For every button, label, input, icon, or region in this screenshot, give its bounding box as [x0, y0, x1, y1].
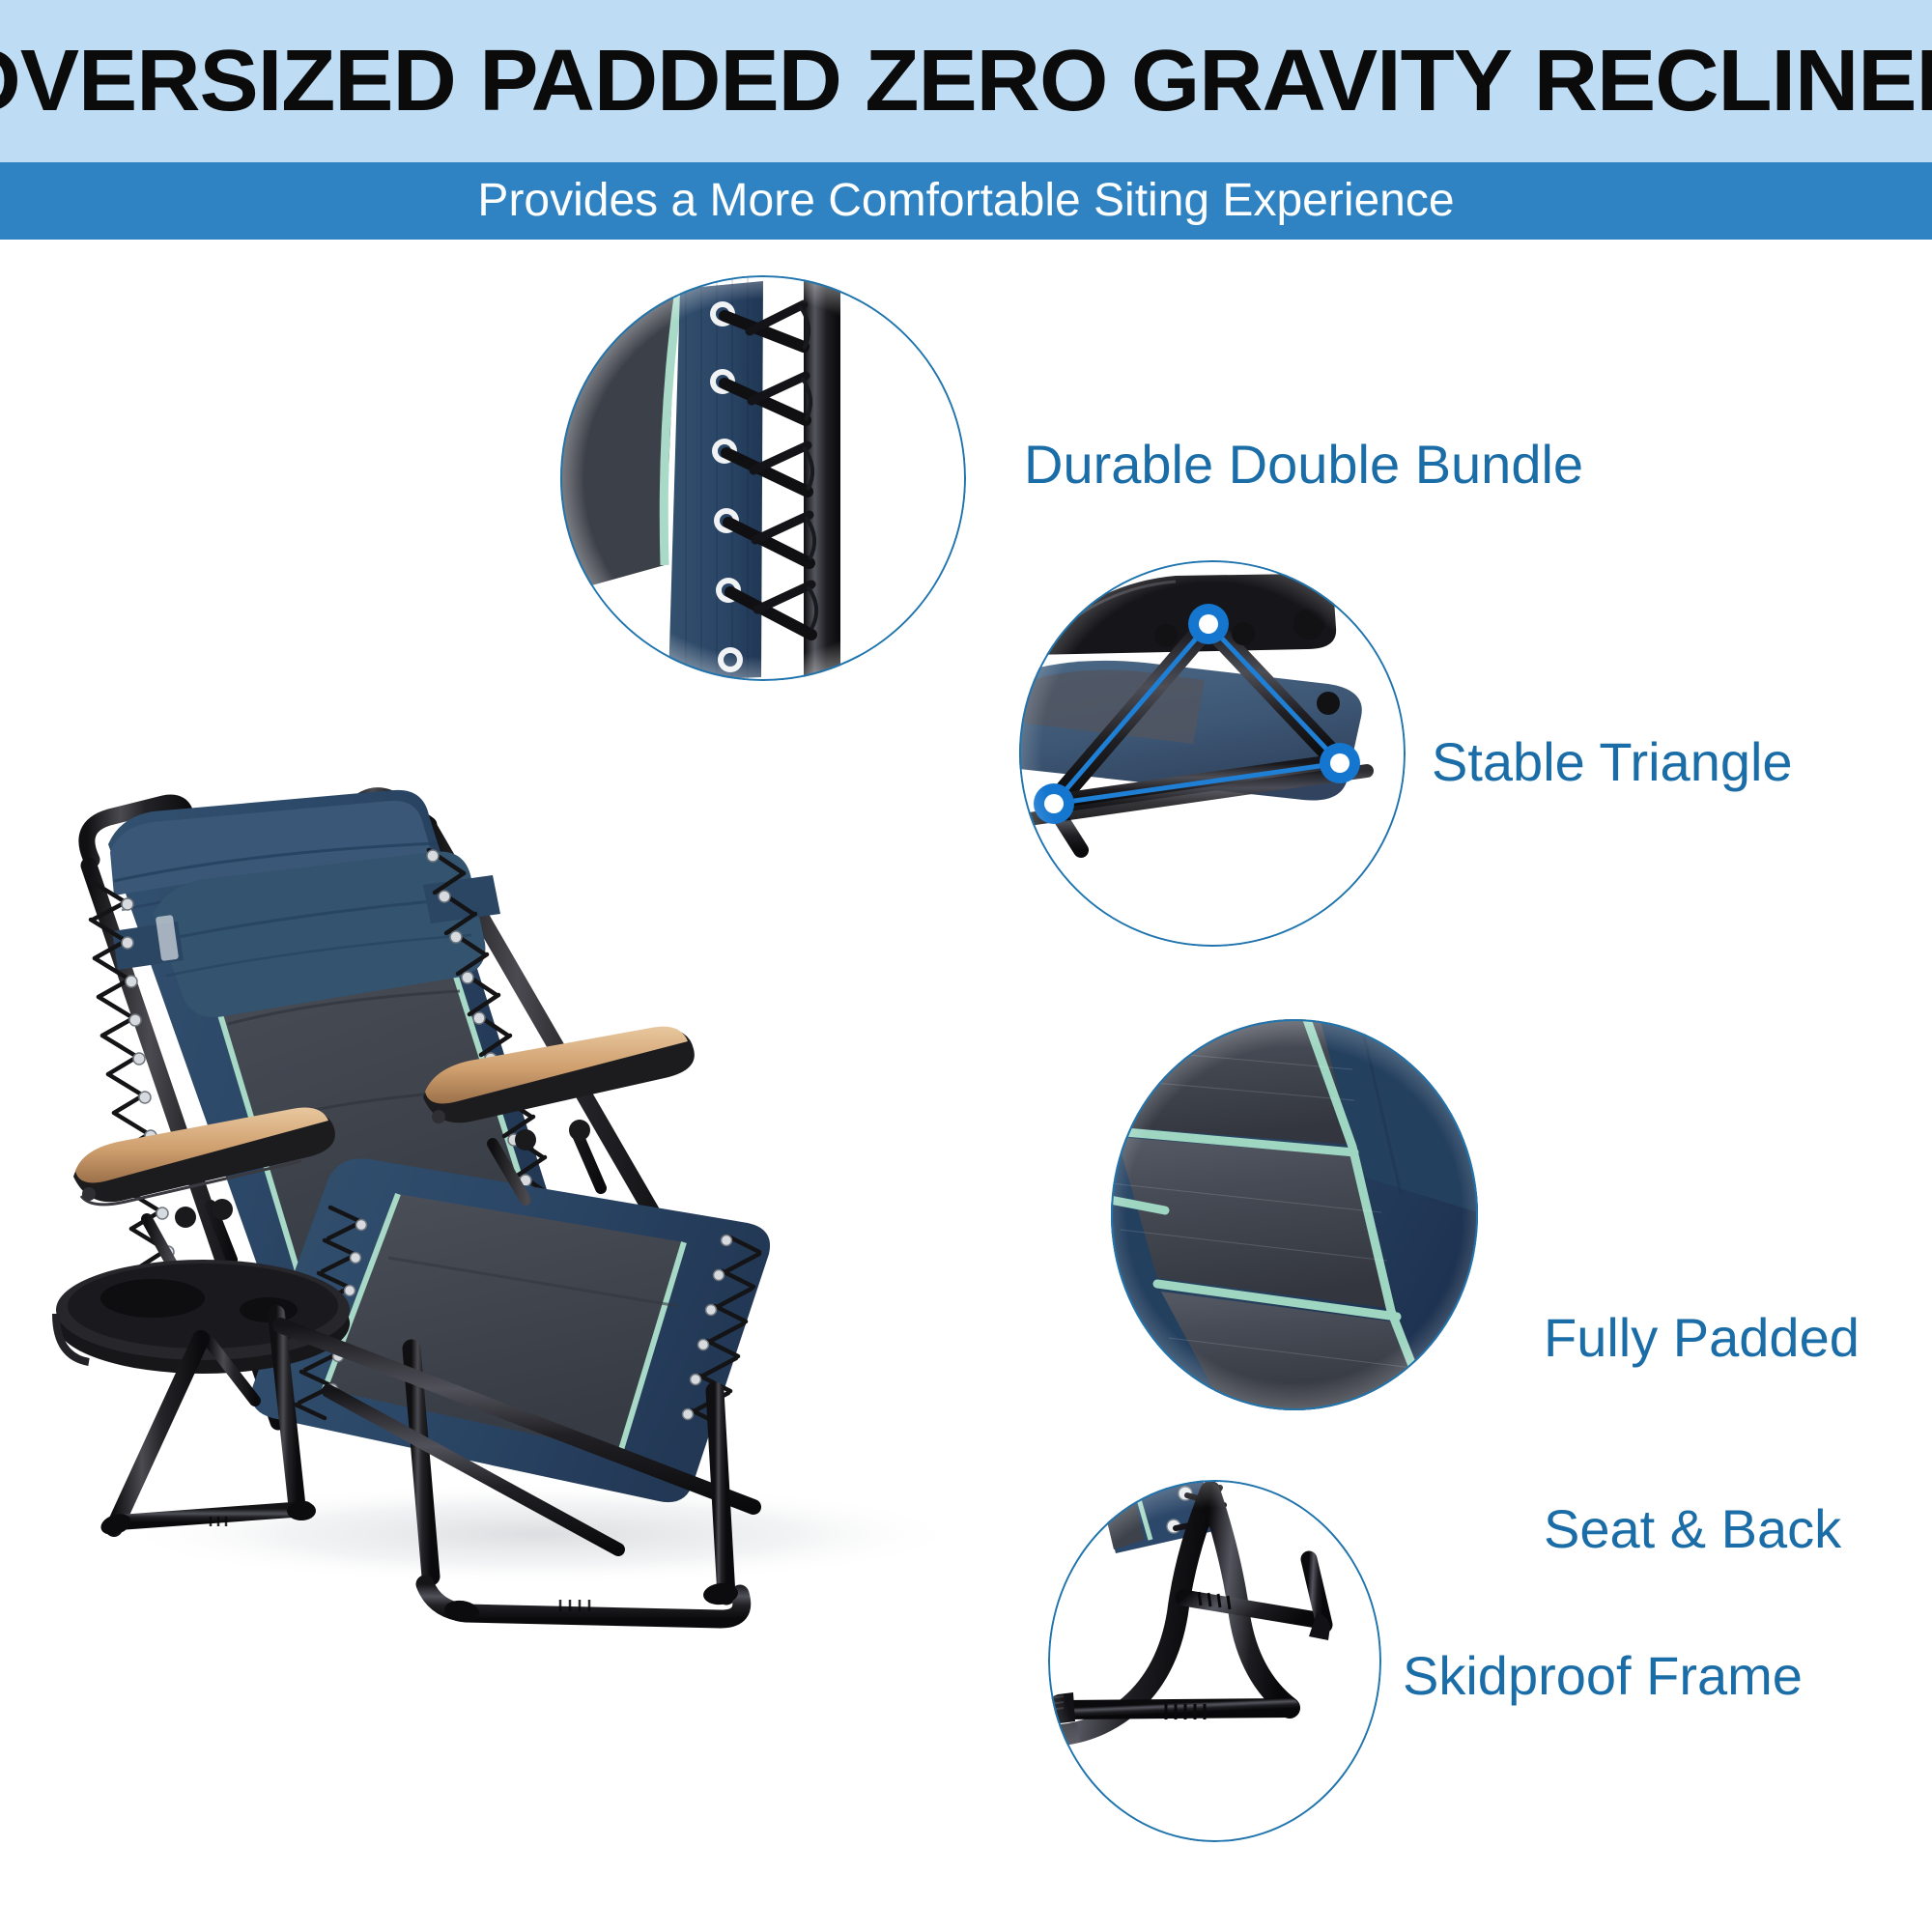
- floor-shadow: [116, 1484, 966, 1584]
- detail-circle-stable-triangle: [1019, 560, 1406, 947]
- navy-fabric-band: [668, 281, 763, 681]
- frame-leg-rear-right: [715, 1391, 726, 1596]
- cup-holder-hole: [100, 1279, 205, 1318]
- detail-circle-durable-double-bundle: [560, 275, 966, 681]
- detail-circle-fully-padded: [1111, 1019, 1478, 1410]
- feature-label-durable-double-bundle: Durable Double Bundle: [1024, 433, 1583, 497]
- feature-label-stable-triangle: Stable Triangle: [1432, 730, 1793, 794]
- page-subtitle: Provides a More Comfortable Siting Exper…: [477, 178, 1454, 224]
- feature-label-line-1: Fully Padded: [1544, 1306, 1860, 1370]
- side-tray-cup-holder: [56, 1260, 350, 1374]
- grey-pad-wedge: [560, 295, 676, 594]
- title-band: OVERSIZED PADDED ZERO GRAVITY RECLINER: [0, 0, 1932, 162]
- product-infographic: OVERSIZED PADDED ZERO GRAVITY RECLINER P…: [0, 0, 1932, 1932]
- detail-circle-skidproof-frame: [1048, 1480, 1381, 1842]
- feature-label-fully-padded-seat-back: Fully Padded Seat & Back: [1544, 1179, 1860, 1690]
- feature-label-skidproof-frame: Skidproof Frame: [1403, 1644, 1803, 1708]
- page-title: OVERSIZED PADDED ZERO GRAVITY RECLINER: [0, 38, 1932, 125]
- product-photo: [39, 541, 1063, 1642]
- feature-label-line-2: Seat & Back: [1544, 1497, 1860, 1561]
- subtitle-band: Provides a More Comfortable Siting Exper…: [0, 162, 1932, 240]
